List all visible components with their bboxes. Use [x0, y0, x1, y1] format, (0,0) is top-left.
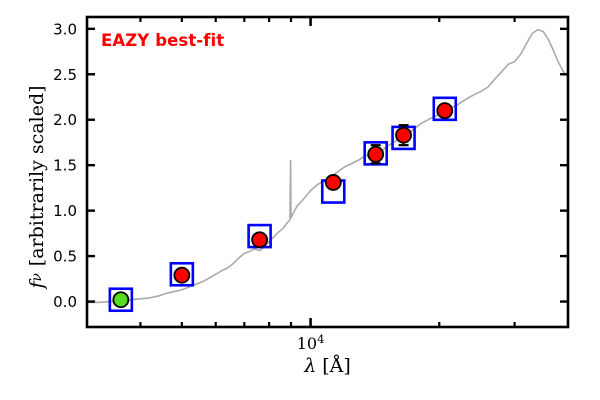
y-tick-label-1: 0.5: [53, 248, 77, 266]
x-axis-label: λ[Å]: [87, 355, 568, 377]
observed-photometry-point: [113, 292, 128, 307]
sed-plot: 0.00.51.01.52.02.53.0104: [0, 0, 600, 400]
y-tick-label-0: 0.0: [53, 293, 77, 311]
y-tick-label-5: 2.5: [53, 66, 77, 84]
x-axis-symbol: λ: [304, 355, 316, 377]
x-major-tick-label-0: 104: [297, 332, 325, 353]
figure-canvas: 0.00.51.01.52.02.53.0104 fν [arbitrarily…: [0, 0, 600, 400]
y-axis-symbol: f: [26, 282, 48, 289]
observed-photometry-point: [174, 268, 189, 283]
observed-photometry-point: [326, 175, 341, 190]
observed-photometry-point: [437, 103, 452, 118]
observed-photometry-point: [252, 232, 267, 247]
y-axis-label: fν [arbitrarily scaled]: [22, 32, 52, 342]
observed-photometry-point: [396, 128, 411, 143]
y-tick-label-2: 1.0: [53, 202, 77, 220]
y-tick-label-4: 2.0: [53, 111, 77, 129]
best-fit-annotation: EAZY best-fit: [101, 31, 224, 50]
y-axis-subscript: ν: [29, 273, 45, 281]
observed-photometry-point: [368, 147, 383, 162]
y-axis-unit: [arbitrarily scaled]: [26, 85, 48, 266]
axes-frame: [87, 17, 568, 327]
spectrum-curve: [87, 30, 568, 303]
y-tick-label-3: 1.5: [53, 157, 77, 175]
x-axis-unit: [Å]: [322, 355, 351, 377]
y-tick-label-6: 3.0: [53, 20, 77, 38]
